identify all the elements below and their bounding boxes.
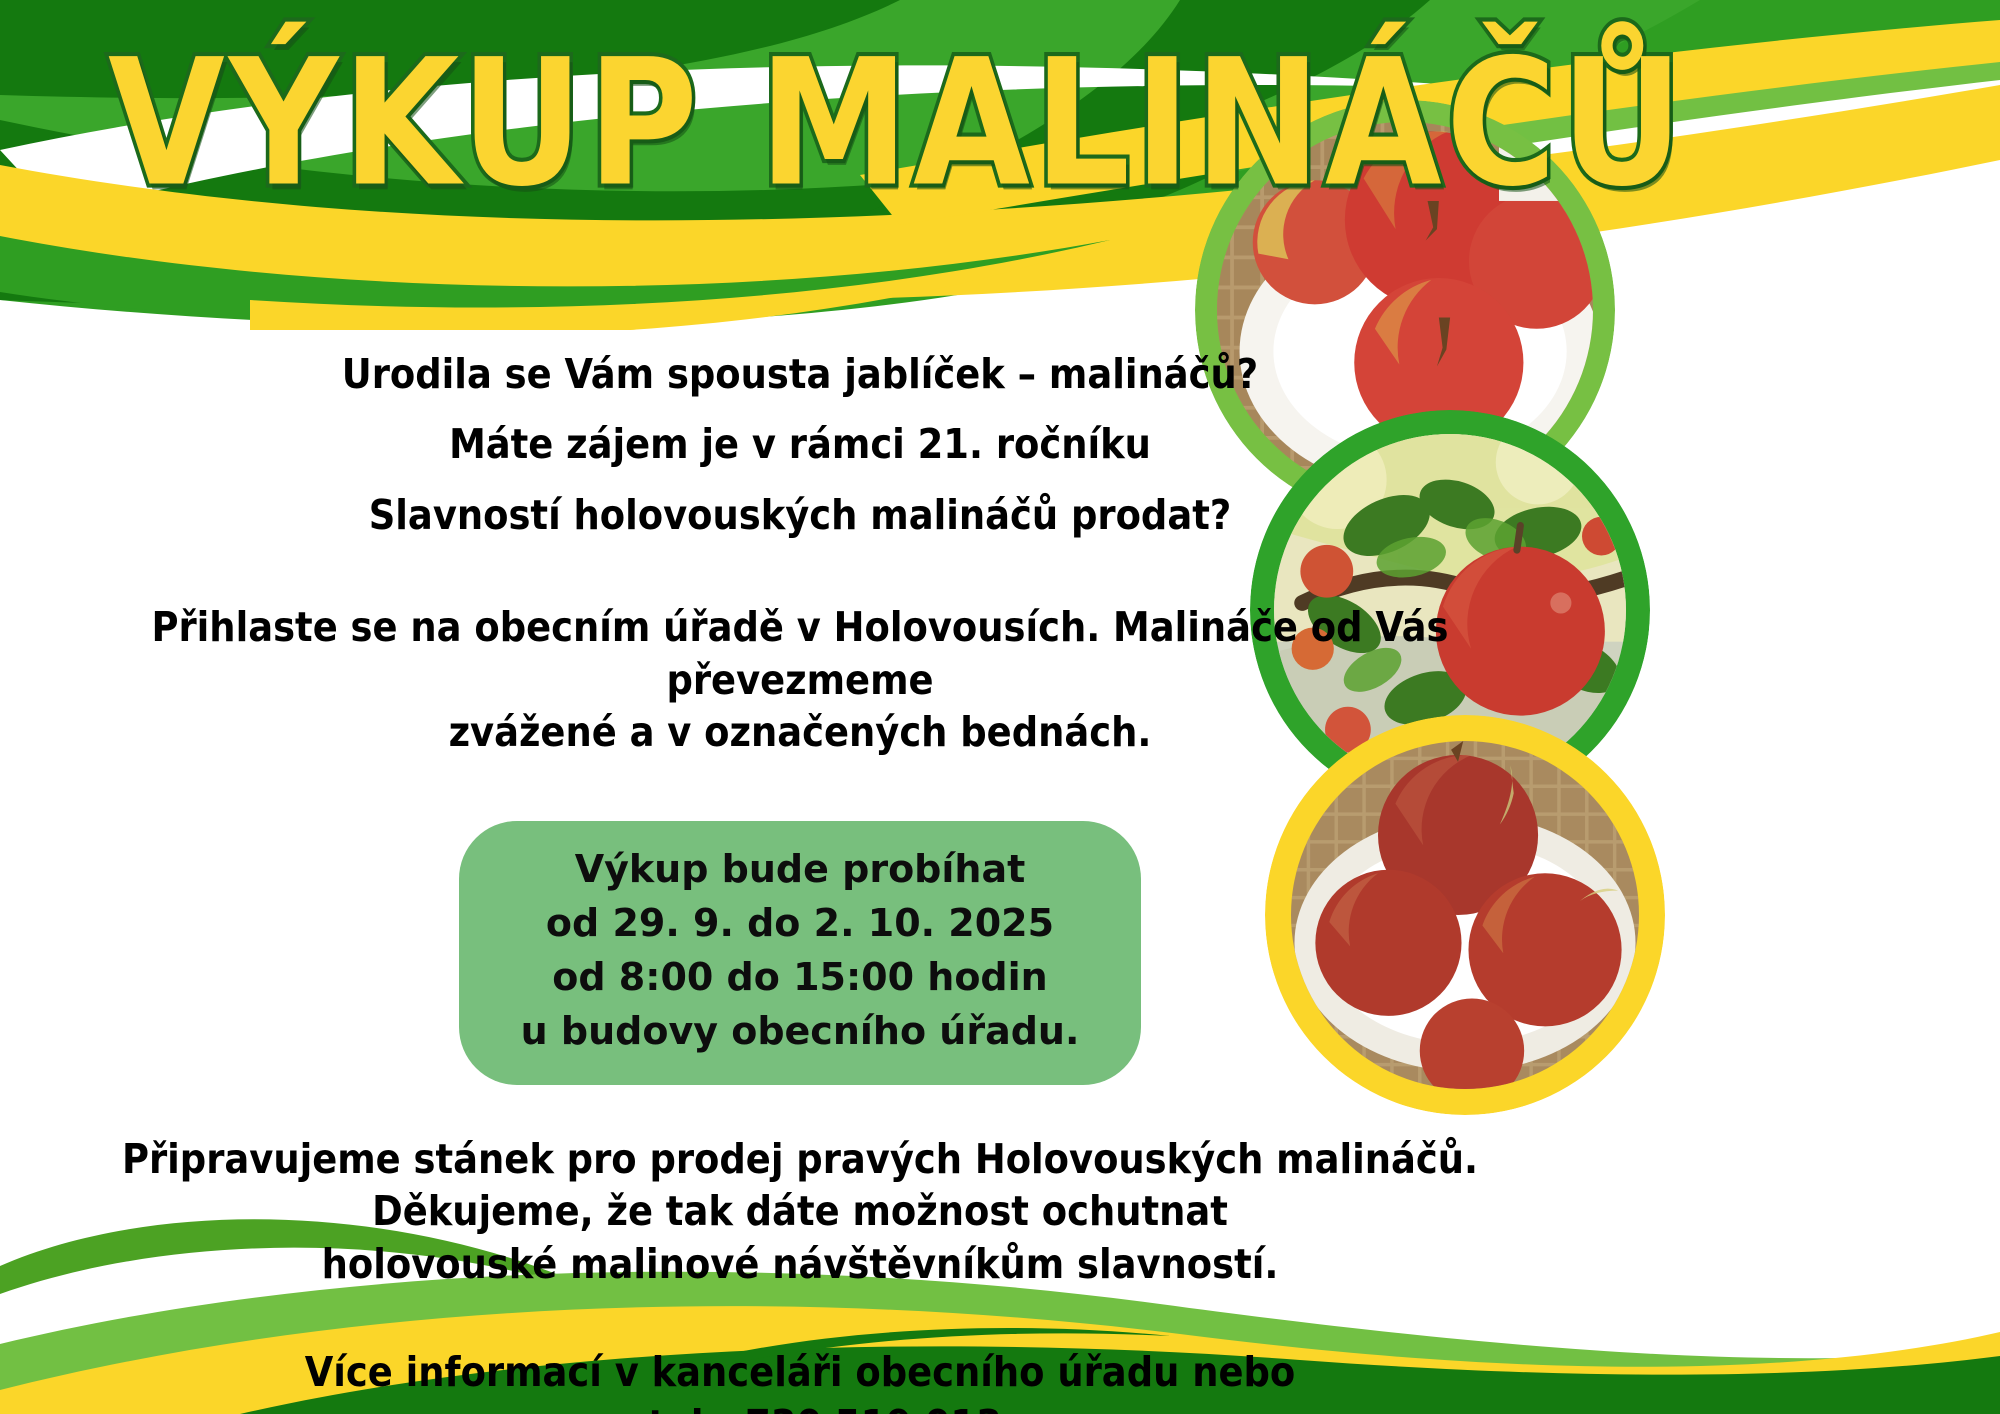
- contact-paragraph: Více informací v kanceláři obecního úřad…: [0, 1346, 1600, 1414]
- status-badge: Výkup bude probíhat od 29. 9. do 2. 10. …: [459, 821, 1142, 1085]
- box-line-1: Výkup bude probíhat: [521, 843, 1080, 897]
- poster-title-container: VÝKUP MALINÁČŮ: [108, 36, 1528, 206]
- register-paragraph: Přihlaste se na obecním úřadě v Holovous…: [0, 601, 1600, 758]
- stall-line-3: holovouské malinové návštěvníkům slavnos…: [0, 1238, 1600, 1290]
- intro-line-2: Máte zájem je v rámci 21. ročníku: [0, 418, 1600, 470]
- poster-body: Urodila se Vám spousta jablíček – maliná…: [0, 330, 1600, 1414]
- register-line-1: Přihlaste se na obecním úřadě v Holovous…: [0, 601, 1600, 706]
- box-line-4: u budovy obecního úřadu.: [521, 1005, 1080, 1059]
- poster-canvas: VÝKUP MALINÁČŮ: [0, 0, 2000, 1414]
- intro-line-3: Slavností holovouských malináčů prodat?: [0, 489, 1600, 541]
- intro-paragraph: Urodila se Vám spousta jablíček – maliná…: [0, 348, 1600, 541]
- highlight-box-row: Výkup bude probíhat od 29. 9. do 2. 10. …: [0, 821, 1600, 1085]
- contact-phone: na tel.: 730 519 013.: [0, 1399, 1600, 1414]
- box-line-3: od 8:00 do 15:00 hodin: [521, 951, 1080, 1005]
- stall-line-2: Děkujeme, že tak dáte možnost ochutnat: [0, 1185, 1600, 1237]
- page-title: VÝKUP MALINÁČŮ: [108, 36, 1556, 211]
- spacer-above-box: [0, 759, 1600, 821]
- spacer-above-contact: [0, 1290, 1600, 1346]
- contact-line-1: Více informací v kanceláři obecního úřad…: [0, 1346, 1600, 1398]
- register-line-2: zvážené a v označených bednách.: [0, 706, 1600, 758]
- stall-line-1: Připravujeme stánek pro prodej pravých H…: [0, 1133, 1600, 1185]
- spacer-below-box: [0, 1085, 1600, 1133]
- stall-paragraph: Připravujeme stánek pro prodej pravých H…: [0, 1133, 1600, 1290]
- box-line-2: od 29. 9. do 2. 10. 2025: [521, 897, 1080, 951]
- intro-line-1: Urodila se Vám spousta jablíček – maliná…: [0, 348, 1600, 400]
